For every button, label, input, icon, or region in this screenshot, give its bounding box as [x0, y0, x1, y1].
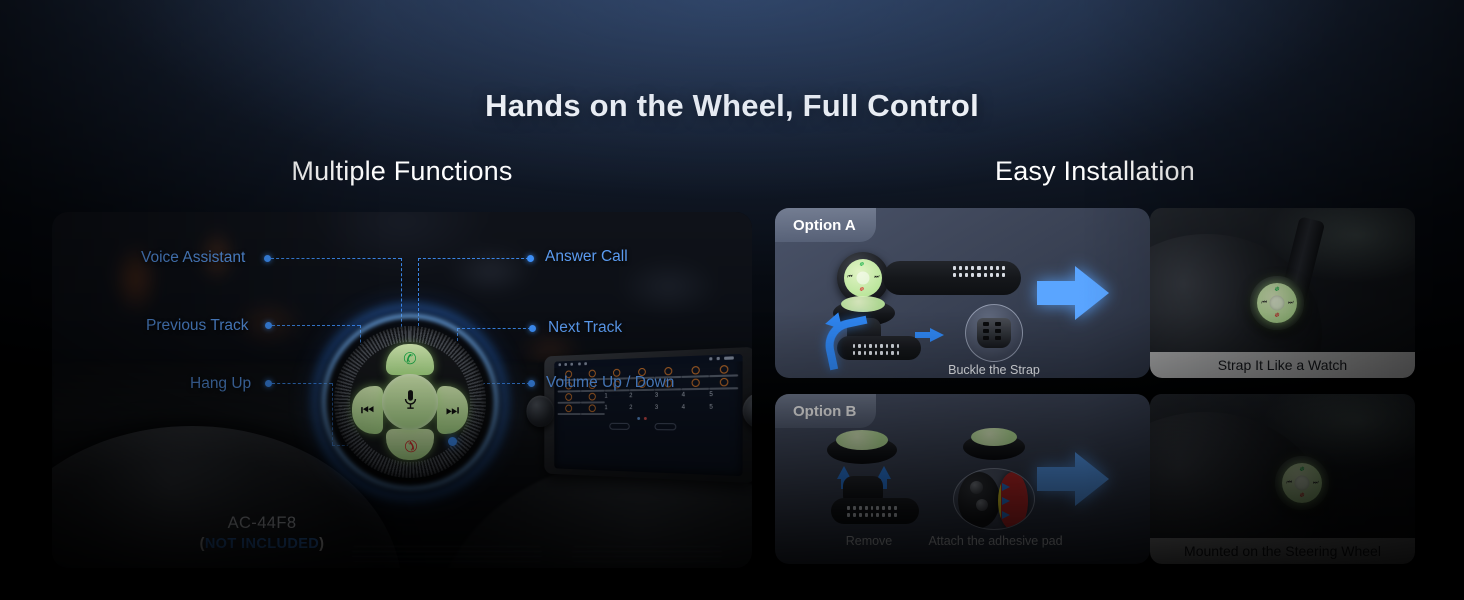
- option-b-transition-arrow: [1075, 452, 1109, 506]
- model-note: (NOT INCLUDED): [52, 536, 472, 552]
- previous-track-icon: ⏮: [361, 403, 375, 418]
- callout-voice-assistant: Voice Assistant: [141, 249, 245, 267]
- connector-voice-assistant-h: [271, 258, 401, 259]
- photo-b-device-face: ❆ ❆ ⏮ ⏭: [1282, 463, 1322, 503]
- next-track-button[interactable]: ⏭: [437, 386, 468, 434]
- option-a-card: Option A ❆ ❆ ⏮ ⏭: [775, 208, 1150, 378]
- car-head-unit: 123 45 123 45: [544, 347, 752, 483]
- previous-track-button[interactable]: ⏮: [352, 386, 383, 434]
- option-b-device-face-2: [971, 428, 1017, 446]
- option-b-adhesive-closeup: [953, 468, 1035, 530]
- answer-call-icon: ✆: [403, 352, 416, 368]
- photo-a-mounted-device: ❆ ❆ ⏮ ⏭: [1250, 276, 1304, 330]
- photo-a-device-face: ❆ ❆ ⏮ ⏭: [1257, 283, 1297, 323]
- not-included-text: NOT INCLUDED: [205, 536, 319, 552]
- connector-answer-call-h: [418, 258, 529, 259]
- model-name: AC-44F8: [52, 514, 472, 533]
- option-a-transition-arrow-tail: [1037, 281, 1079, 305]
- voice-assistant-button[interactable]: [382, 374, 438, 430]
- option-b-photo: ❆ ❆ ⏮ ⏭ Mounted on the Steering Wheel: [1150, 394, 1415, 564]
- answer-call-button[interactable]: ✆: [386, 344, 434, 375]
- option-b-remove-arrow-right: [877, 466, 891, 479]
- head-unit-left-knob: [526, 395, 554, 427]
- section-heading-multiple-functions: Multiple Functions: [52, 156, 752, 187]
- callout-dot-previous-track: [265, 322, 272, 329]
- microphone-glyph: [402, 389, 419, 411]
- head-unit-screen: 123 45 123 45: [554, 354, 742, 476]
- option-a-photo-caption: Strap It Like a Watch: [1150, 352, 1415, 378]
- head-unit-legend: [554, 417, 742, 420]
- option-a-tab: Option A: [775, 208, 876, 242]
- option-a-device-top-face: [841, 296, 885, 312]
- steering-wheel-remote-device[interactable]: ✆ ✆ ⏮ ⏭: [312, 304, 508, 500]
- option-b-tab: Option B: [775, 394, 876, 428]
- page-title: Hands on the Wheel, Full Control: [0, 88, 1464, 124]
- option-a-step-arrow-tail: [915, 332, 933, 338]
- device-body: ✆ ✆ ⏮ ⏭: [334, 326, 486, 478]
- callout-volume-up-down: Volume Up / Down: [546, 374, 674, 392]
- option-a-photo: ❆ ❆ ⏮ ⏭ Strap It Like a Watch: [1150, 208, 1415, 378]
- callout-hang-up: Hang Up: [190, 375, 251, 393]
- connector-node-volume: [448, 437, 457, 446]
- option-b-card: Option B Remove Attach the ad: [775, 394, 1150, 564]
- hang-up-icon: ✆: [400, 434, 421, 455]
- option-a-step-caption: Buckle the Strap: [930, 363, 1058, 377]
- next-track-icon: ⏭: [446, 403, 460, 418]
- microphone-icon: [402, 389, 419, 415]
- option-b-photo-caption: Mounted on the Steering Wheel: [1150, 538, 1415, 564]
- callout-dot-voice-assistant: [264, 255, 271, 262]
- section-heading-easy-installation: Easy Installation: [775, 156, 1415, 187]
- callout-answer-call: Answer Call: [545, 248, 628, 266]
- option-a-transition-arrow: [1075, 266, 1109, 320]
- option-b-device-face: [836, 430, 888, 450]
- callout-previous-track: Previous Track: [146, 317, 249, 335]
- hang-up-button[interactable]: ✆: [386, 429, 434, 460]
- option-a-buckle-closeup: [965, 304, 1023, 362]
- air-vent-right: [572, 546, 722, 562]
- head-unit-buttons: [554, 422, 742, 431]
- option-b-strap-holes: [847, 506, 897, 516]
- callout-next-track: Next Track: [548, 319, 622, 337]
- option-b-step-caption-1: Remove: [819, 534, 919, 548]
- option-b-step-caption-2: Attach the adhesive pad: [923, 534, 1068, 548]
- callout-dot-hang-up: [265, 380, 272, 387]
- photo-b-mounted-device: ❆ ❆ ⏮ ⏭: [1275, 456, 1329, 510]
- option-b-transition-arrow-tail: [1037, 467, 1079, 491]
- option-a-strap-holes-top: [953, 266, 1005, 277]
- infographic-stage: Hands on the Wheel, Full Control Multipl…: [0, 0, 1464, 600]
